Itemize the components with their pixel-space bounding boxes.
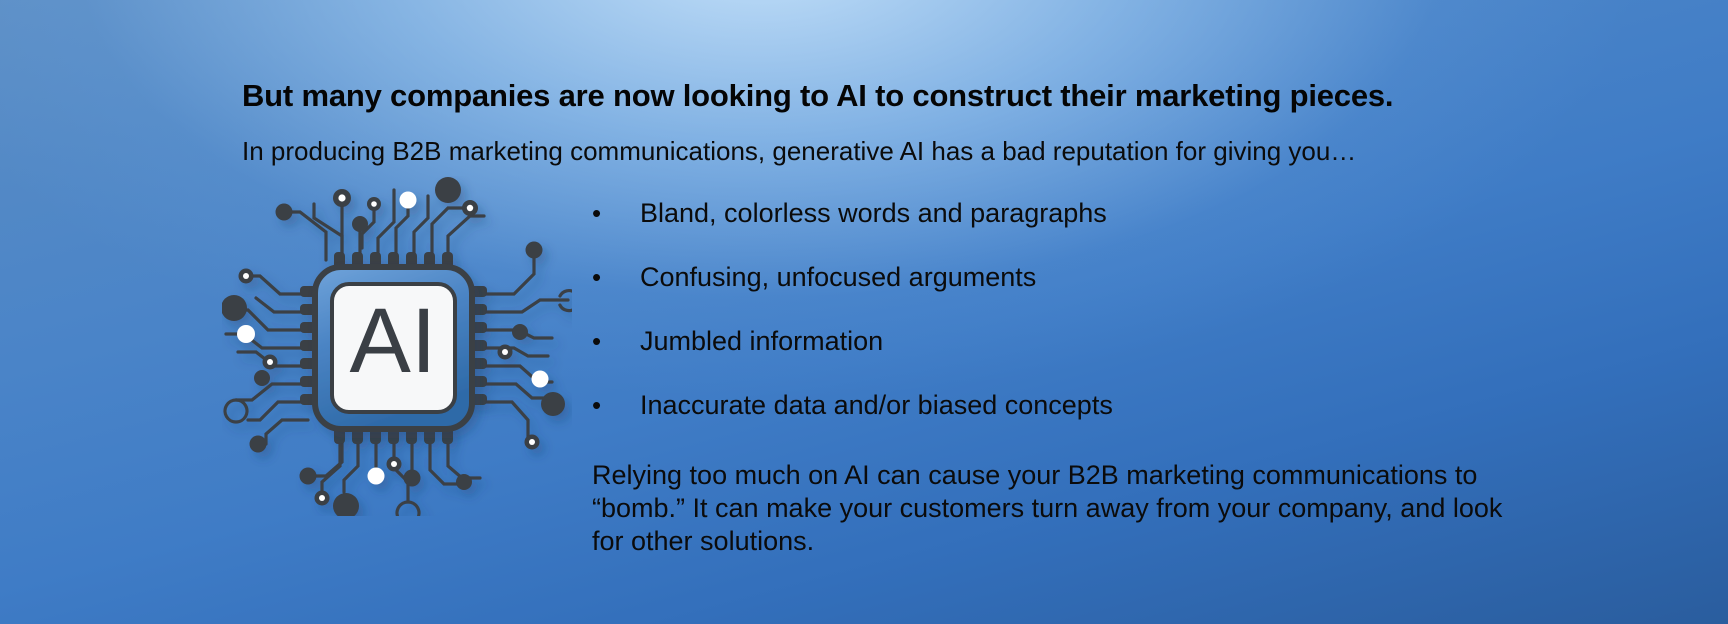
closing-paragraph: Relying too much on AI can cause your B2… xyxy=(592,459,1522,558)
list-item: • Bland, colorless words and paragraphs xyxy=(592,198,1492,262)
closing-line-3: for other solutions. xyxy=(592,525,1522,558)
page-title: But many companies are now looking to AI… xyxy=(242,78,1393,114)
list-item-label: Confusing, unfocused arguments xyxy=(640,262,1036,293)
bullet-icon: • xyxy=(592,200,640,226)
list-item-label: Jumbled information xyxy=(640,326,883,357)
pain-points-list: • Bland, colorless words and paragraphs … xyxy=(592,198,1492,454)
list-item: • Inaccurate data and/or biased concepts xyxy=(592,390,1492,454)
subtitle: In producing B2B marketing communication… xyxy=(242,136,1356,167)
closing-line-2: “bomb.” It can make your customers turn … xyxy=(592,492,1522,525)
ai-chip-illustration: AI xyxy=(222,176,572,516)
bullet-icon: • xyxy=(592,328,640,354)
bullet-icon: • xyxy=(592,264,640,290)
list-item: • Confusing, unfocused arguments xyxy=(592,262,1492,326)
list-item-label: Inaccurate data and/or biased concepts xyxy=(640,390,1113,421)
chip-label-text: AI xyxy=(350,290,437,392)
bullet-icon: • xyxy=(592,392,640,418)
list-item: • Jumbled information xyxy=(592,326,1492,390)
closing-line-1: Relying too much on AI can cause your B2… xyxy=(592,459,1522,492)
list-item-label: Bland, colorless words and paragraphs xyxy=(640,198,1107,229)
slide-canvas: But many companies are now looking to AI… xyxy=(0,0,1728,624)
